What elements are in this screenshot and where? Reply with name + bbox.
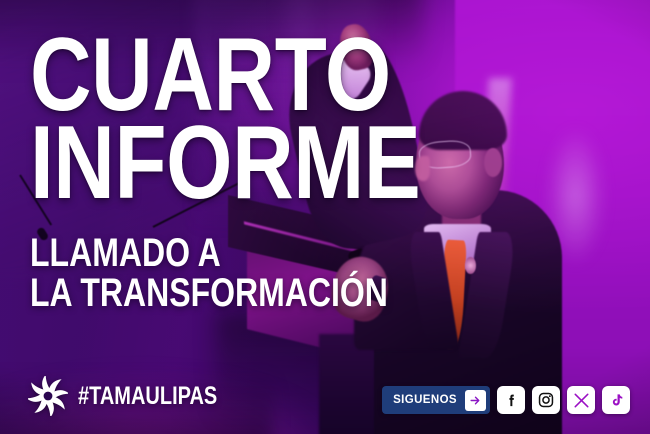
social-bar: SIGUENOS: [382, 386, 630, 414]
lapel-pin: [465, 257, 475, 274]
follow-us-label: SIGUENOS: [393, 394, 457, 406]
tamaulipas-swirl-icon: [28, 376, 68, 416]
subheadline-block: LLAMADO A LA TRANSFORMACIÓN: [30, 233, 450, 313]
facebook-icon[interactable]: [497, 386, 525, 414]
instagram-icon[interactable]: [532, 386, 560, 414]
arrow-right-icon[interactable]: [465, 390, 486, 411]
follow-us-button[interactable]: SIGUENOS: [382, 386, 490, 414]
brand-lockup: #TAMAULIPAS: [28, 376, 252, 416]
brand-hashtag: #TAMAULIPAS: [78, 382, 217, 411]
speaker-ear: [484, 148, 502, 177]
x-twitter-icon[interactable]: [567, 386, 595, 414]
subheadline-line-1: LLAMADO A: [30, 233, 366, 273]
subheadline-line-2: LA TRANSFORMACIÓN: [30, 273, 366, 313]
headline-block: CUARTO INFORME LLAMADO A LA TRANSFORMACI…: [30, 32, 450, 313]
headline-line-2: INFORME: [30, 120, 374, 206]
tiktok-icon[interactable]: [602, 386, 630, 414]
poster-canvas: CUARTO INFORME LLAMADO A LA TRANSFORMACI…: [0, 0, 650, 434]
